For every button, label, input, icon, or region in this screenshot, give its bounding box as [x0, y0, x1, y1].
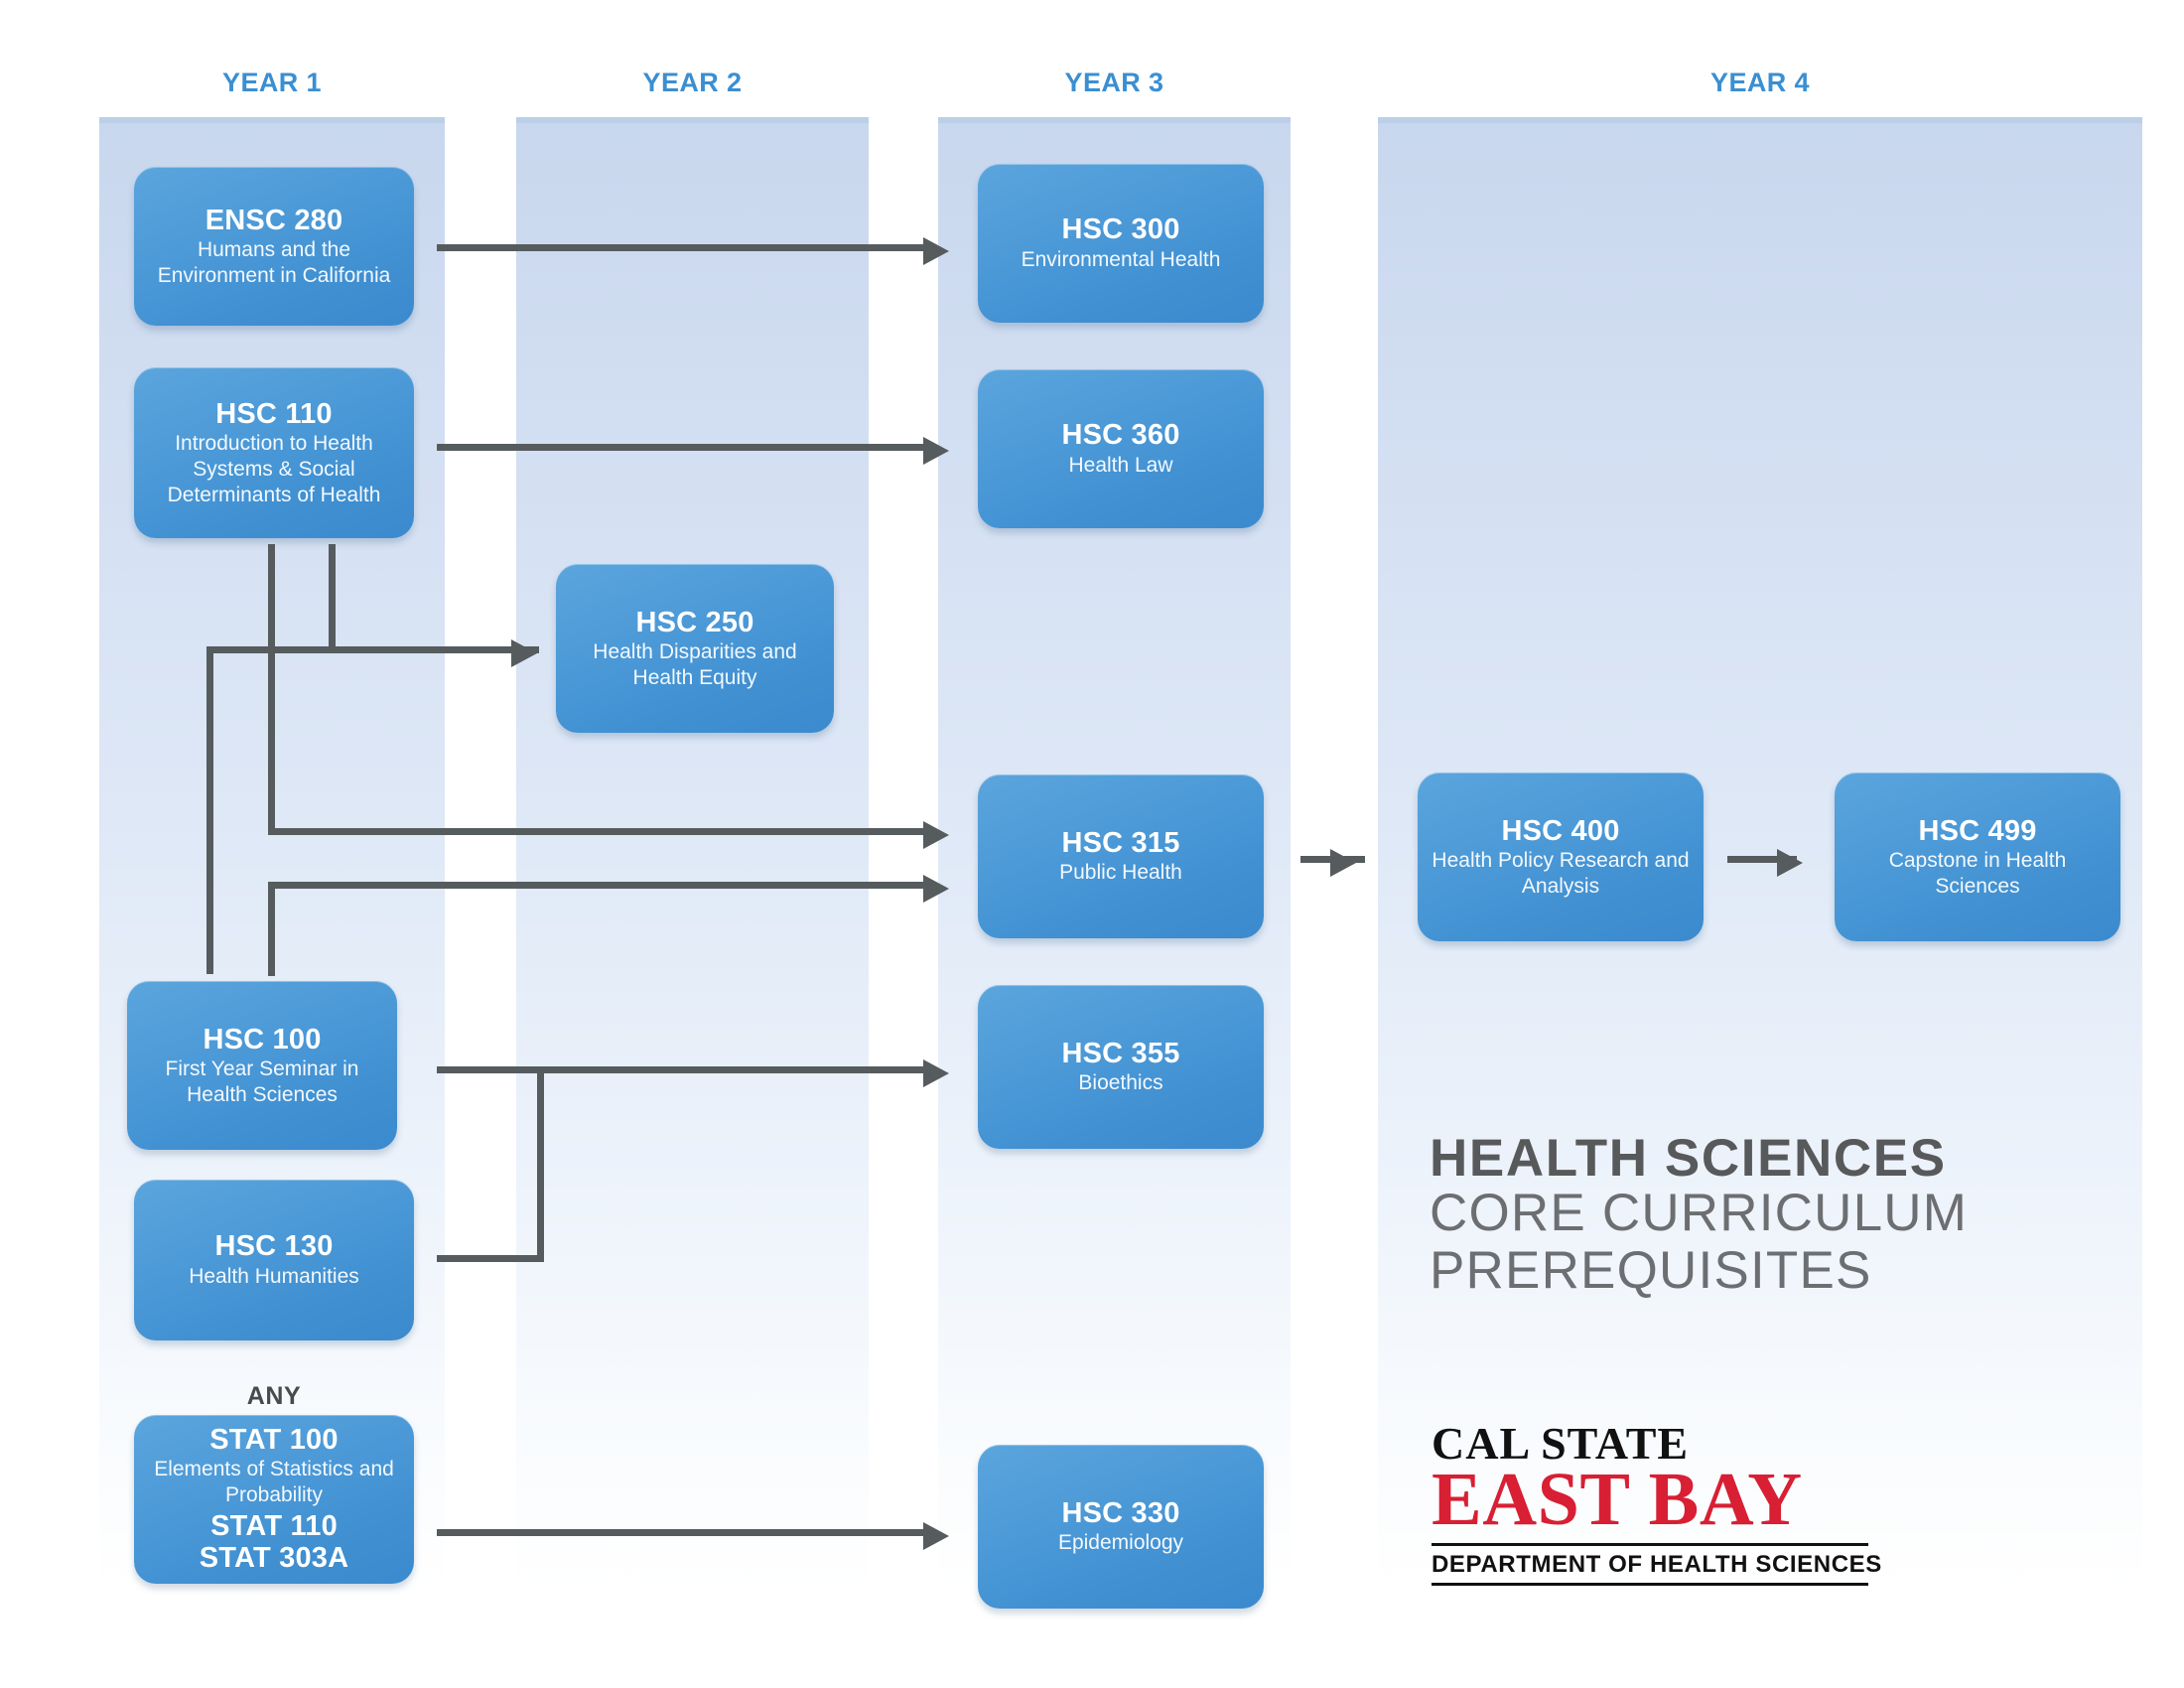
course-code-stat-110: STAT 110: [210, 1510, 338, 1542]
cal-state-east-bay-logo: CAL STATE EAST BAY DEPARTMENT OF HEALTH …: [1432, 1422, 1868, 1586]
logo-divider-bottom: [1432, 1583, 1868, 1586]
course-box-hsc300[interactable]: HSC 300 Environmental Health: [978, 164, 1264, 323]
year-label-4: YEAR 4: [1378, 68, 2142, 98]
year-column-1: [99, 117, 445, 1589]
year-label-2: YEAR 2: [516, 68, 869, 98]
course-box-hsc315[interactable]: HSC 315 Public Health: [978, 774, 1264, 938]
connector-hsc110-to-hsc315-horizontal: [268, 828, 933, 835]
connector-hsc110-hsc360: [437, 444, 933, 451]
course-code: HSC 400: [1501, 815, 1619, 847]
year-column-2: [516, 117, 869, 1589]
course-title: Introduction to Health Systems & Social …: [146, 431, 402, 507]
course-title: Health Policy Research and Analysis: [1430, 848, 1692, 899]
connector-stat-hsc330: [437, 1529, 933, 1536]
course-code: HSC 110: [215, 398, 332, 430]
brand-line-prerequisites: PREREQUISITES: [1430, 1242, 1968, 1300]
course-box-ensc280[interactable]: ENSC 280 Humans and the Environment in C…: [134, 167, 414, 326]
year-label-1: YEAR 1: [99, 68, 445, 98]
connector-to-hsc250: [206, 646, 539, 653]
arrowhead-hsc330: [923, 1522, 949, 1550]
brand-line-health-sciences: HEALTH SCIENCES: [1430, 1132, 1968, 1185]
column-top-edge: [1378, 117, 2142, 123]
course-code: HSC 360: [1061, 419, 1179, 451]
arrowhead-hsc355: [923, 1059, 949, 1087]
logo-east-bay: EAST BAY: [1432, 1466, 1868, 1533]
course-box-hsc330[interactable]: HSC 330 Epidemiology: [978, 1445, 1264, 1609]
connector-ensc280-hsc300: [437, 244, 933, 251]
course-title: Health Humanities: [189, 1264, 359, 1290]
connector-hsc130-riser: [537, 1066, 544, 1262]
curriculum-flowchart: YEAR 1 YEAR 2 YEAR 3 YEAR 4 ENSC 280 Hum…: [0, 0, 2184, 1688]
course-box-hsc250[interactable]: HSC 250 Health Disparities and Health Eq…: [556, 564, 834, 733]
course-title: Health Disparities and Health Equity: [568, 639, 822, 690]
course-code-stat-100: STAT 100: [209, 1424, 338, 1456]
course-code: HSC 250: [635, 607, 753, 638]
column-top-edge: [99, 117, 445, 123]
course-box-stat[interactable]: STAT 100 Elements of Statistics and Prob…: [134, 1415, 414, 1584]
course-code: HSC 330: [1061, 1497, 1179, 1529]
course-title: First Year Seminar in Health Sciences: [139, 1056, 385, 1107]
course-box-hsc100[interactable]: HSC 100 First Year Seminar in Health Sci…: [127, 981, 397, 1150]
connector-hsc110-drop-b: [329, 544, 336, 653]
course-title-stat-100: Elements of Statistics and Probability: [146, 1457, 402, 1507]
course-code-stat-303a: STAT 303A: [200, 1542, 349, 1574]
course-title: Environmental Health: [1022, 247, 1221, 273]
arrowhead-hsc400: [1330, 849, 1356, 877]
course-title: Epidemiology: [1058, 1530, 1183, 1556]
course-title: Public Health: [1059, 860, 1182, 886]
arrowhead-hsc300: [923, 237, 949, 265]
connector-hsc100-hsc355: [437, 1066, 933, 1073]
course-box-hsc499[interactable]: HSC 499 Capstone in Health Sciences: [1835, 773, 2120, 941]
course-box-hsc360[interactable]: HSC 360 Health Law: [978, 369, 1264, 528]
course-title: Humans and the Environment in California: [146, 237, 402, 288]
course-box-hsc130[interactable]: HSC 130 Health Humanities: [134, 1180, 414, 1340]
stat-any-label: ANY: [134, 1382, 414, 1411]
course-title: Health Law: [1068, 453, 1172, 479]
column-top-edge: [938, 117, 1291, 123]
connector-hsc110-to-hsc315-vertical: [268, 646, 275, 835]
connector-hsc110-drop-a: [268, 544, 275, 663]
arrowhead-hsc315-lower: [923, 875, 949, 903]
connector-hsc100-branch-vertical: [268, 882, 275, 976]
column-top-edge: [516, 117, 869, 123]
course-code: HSC 100: [203, 1024, 321, 1055]
course-code: HSC 130: [214, 1230, 333, 1262]
year-label-3: YEAR 3: [938, 68, 1291, 98]
course-title: Capstone in Health Sciences: [1846, 848, 2109, 899]
connector-hsc100-up-vertical: [206, 646, 213, 974]
connector-hsc130-stub: [437, 1255, 544, 1262]
arrowhead-hsc315-upper: [923, 821, 949, 849]
course-code: HSC 499: [1918, 815, 2036, 847]
course-box-hsc400[interactable]: HSC 400 Health Policy Research and Analy…: [1418, 773, 1704, 941]
course-box-hsc110[interactable]: HSC 110 Introduction to Health Systems &…: [134, 367, 414, 538]
course-code: HSC 315: [1061, 827, 1179, 859]
brand-line-core-curriculum: CORE CURRICULUM: [1430, 1185, 1968, 1242]
arrowhead-hsc250: [511, 639, 537, 667]
course-code: HSC 355: [1061, 1038, 1179, 1069]
course-code: HSC 300: [1061, 213, 1179, 245]
course-code: ENSC 280: [205, 205, 343, 236]
course-box-hsc355[interactable]: HSC 355 Bioethics: [978, 985, 1264, 1149]
branding-title: HEALTH SCIENCES CORE CURRICULUM PREREQUI…: [1430, 1132, 1968, 1301]
logo-department-label: DEPARTMENT OF HEALTH SCIENCES: [1432, 1546, 1868, 1583]
arrowhead-hsc499: [1777, 849, 1803, 877]
course-title: Bioethics: [1078, 1070, 1162, 1096]
arrowhead-hsc360: [923, 437, 949, 465]
connector-hsc100-to-hsc315-horizontal: [268, 882, 933, 889]
